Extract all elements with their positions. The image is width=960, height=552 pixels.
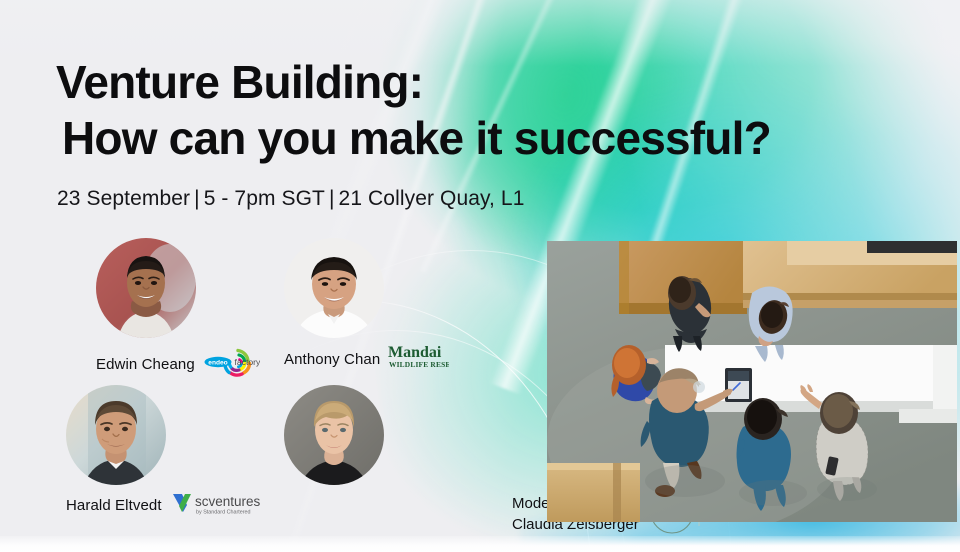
endeavor-factory-logo: endeo factory bbox=[202, 342, 260, 387]
svg-text:scventures: scventures bbox=[195, 494, 261, 509]
event-date: 23 September bbox=[57, 187, 190, 210]
svg-text:Mandai: Mandai bbox=[388, 344, 442, 361]
event-venue: 21 Collyer Quay, L1 bbox=[339, 187, 525, 210]
svg-text:endeo: endeo bbox=[208, 359, 227, 366]
speaker-name: Harald Eltvedt bbox=[66, 497, 162, 514]
headshot-edwin-cheang bbox=[96, 238, 196, 338]
event-photo-team-meeting bbox=[547, 241, 957, 522]
title-block: Venture Building: How can you make it su… bbox=[56, 54, 896, 166]
svg-text:factory: factory bbox=[234, 357, 260, 367]
speaker-claudia-zeisberger: Moderated by: Claudia Zeisberger INSEAD … bbox=[284, 385, 384, 485]
event-separator-1: | bbox=[190, 187, 204, 211]
speaker-label-anthony-chan: Anthony Chan Mandai WILDLIFE RESERVE bbox=[284, 342, 449, 377]
svg-text:WILDLIFE RESERVE: WILDLIFE RESERVE bbox=[389, 360, 449, 369]
event-separator-2: | bbox=[325, 187, 339, 211]
headshot-harald-eltvedt bbox=[66, 385, 166, 485]
speaker-edwin-cheang: Edwin Cheang bbox=[96, 238, 196, 338]
scventures-logo: scventures by Standard Chartered bbox=[169, 489, 262, 522]
event-time: 5 - 7pm SGT bbox=[204, 187, 325, 210]
headshot-claudia-zeisberger bbox=[284, 385, 384, 485]
mandai-wildlife-reserve-logo: Mandai WILDLIFE RESERVE bbox=[387, 342, 449, 377]
headshot-anthony-chan bbox=[284, 238, 384, 338]
svg-text:by Standard Chartered: by Standard Chartered bbox=[196, 510, 251, 516]
speaker-name: Anthony Chan bbox=[284, 351, 380, 368]
background-bottom-white-strip bbox=[0, 536, 960, 552]
speaker-name: Edwin Cheang bbox=[96, 356, 195, 373]
title-line-2: How can you make it successful? bbox=[62, 110, 896, 166]
speaker-label-edwin-cheang: Edwin Cheang bbox=[96, 342, 260, 387]
event-poster: Venture Building: How can you make it su… bbox=[0, 0, 960, 552]
title-line-1: Venture Building: bbox=[56, 54, 896, 110]
event-details-line: 23 September|5 - 7pm SGT|21 Collyer Quay… bbox=[57, 187, 524, 211]
speaker-harald-eltvedt: Harald Eltvedt scventures by Standard Ch… bbox=[66, 385, 166, 485]
speaker-anthony-chan: Anthony Chan Mandai WILDLIFE RESERVE bbox=[284, 238, 384, 338]
speaker-label-harald-eltvedt: Harald Eltvedt scventures by Standard Ch… bbox=[66, 489, 262, 522]
